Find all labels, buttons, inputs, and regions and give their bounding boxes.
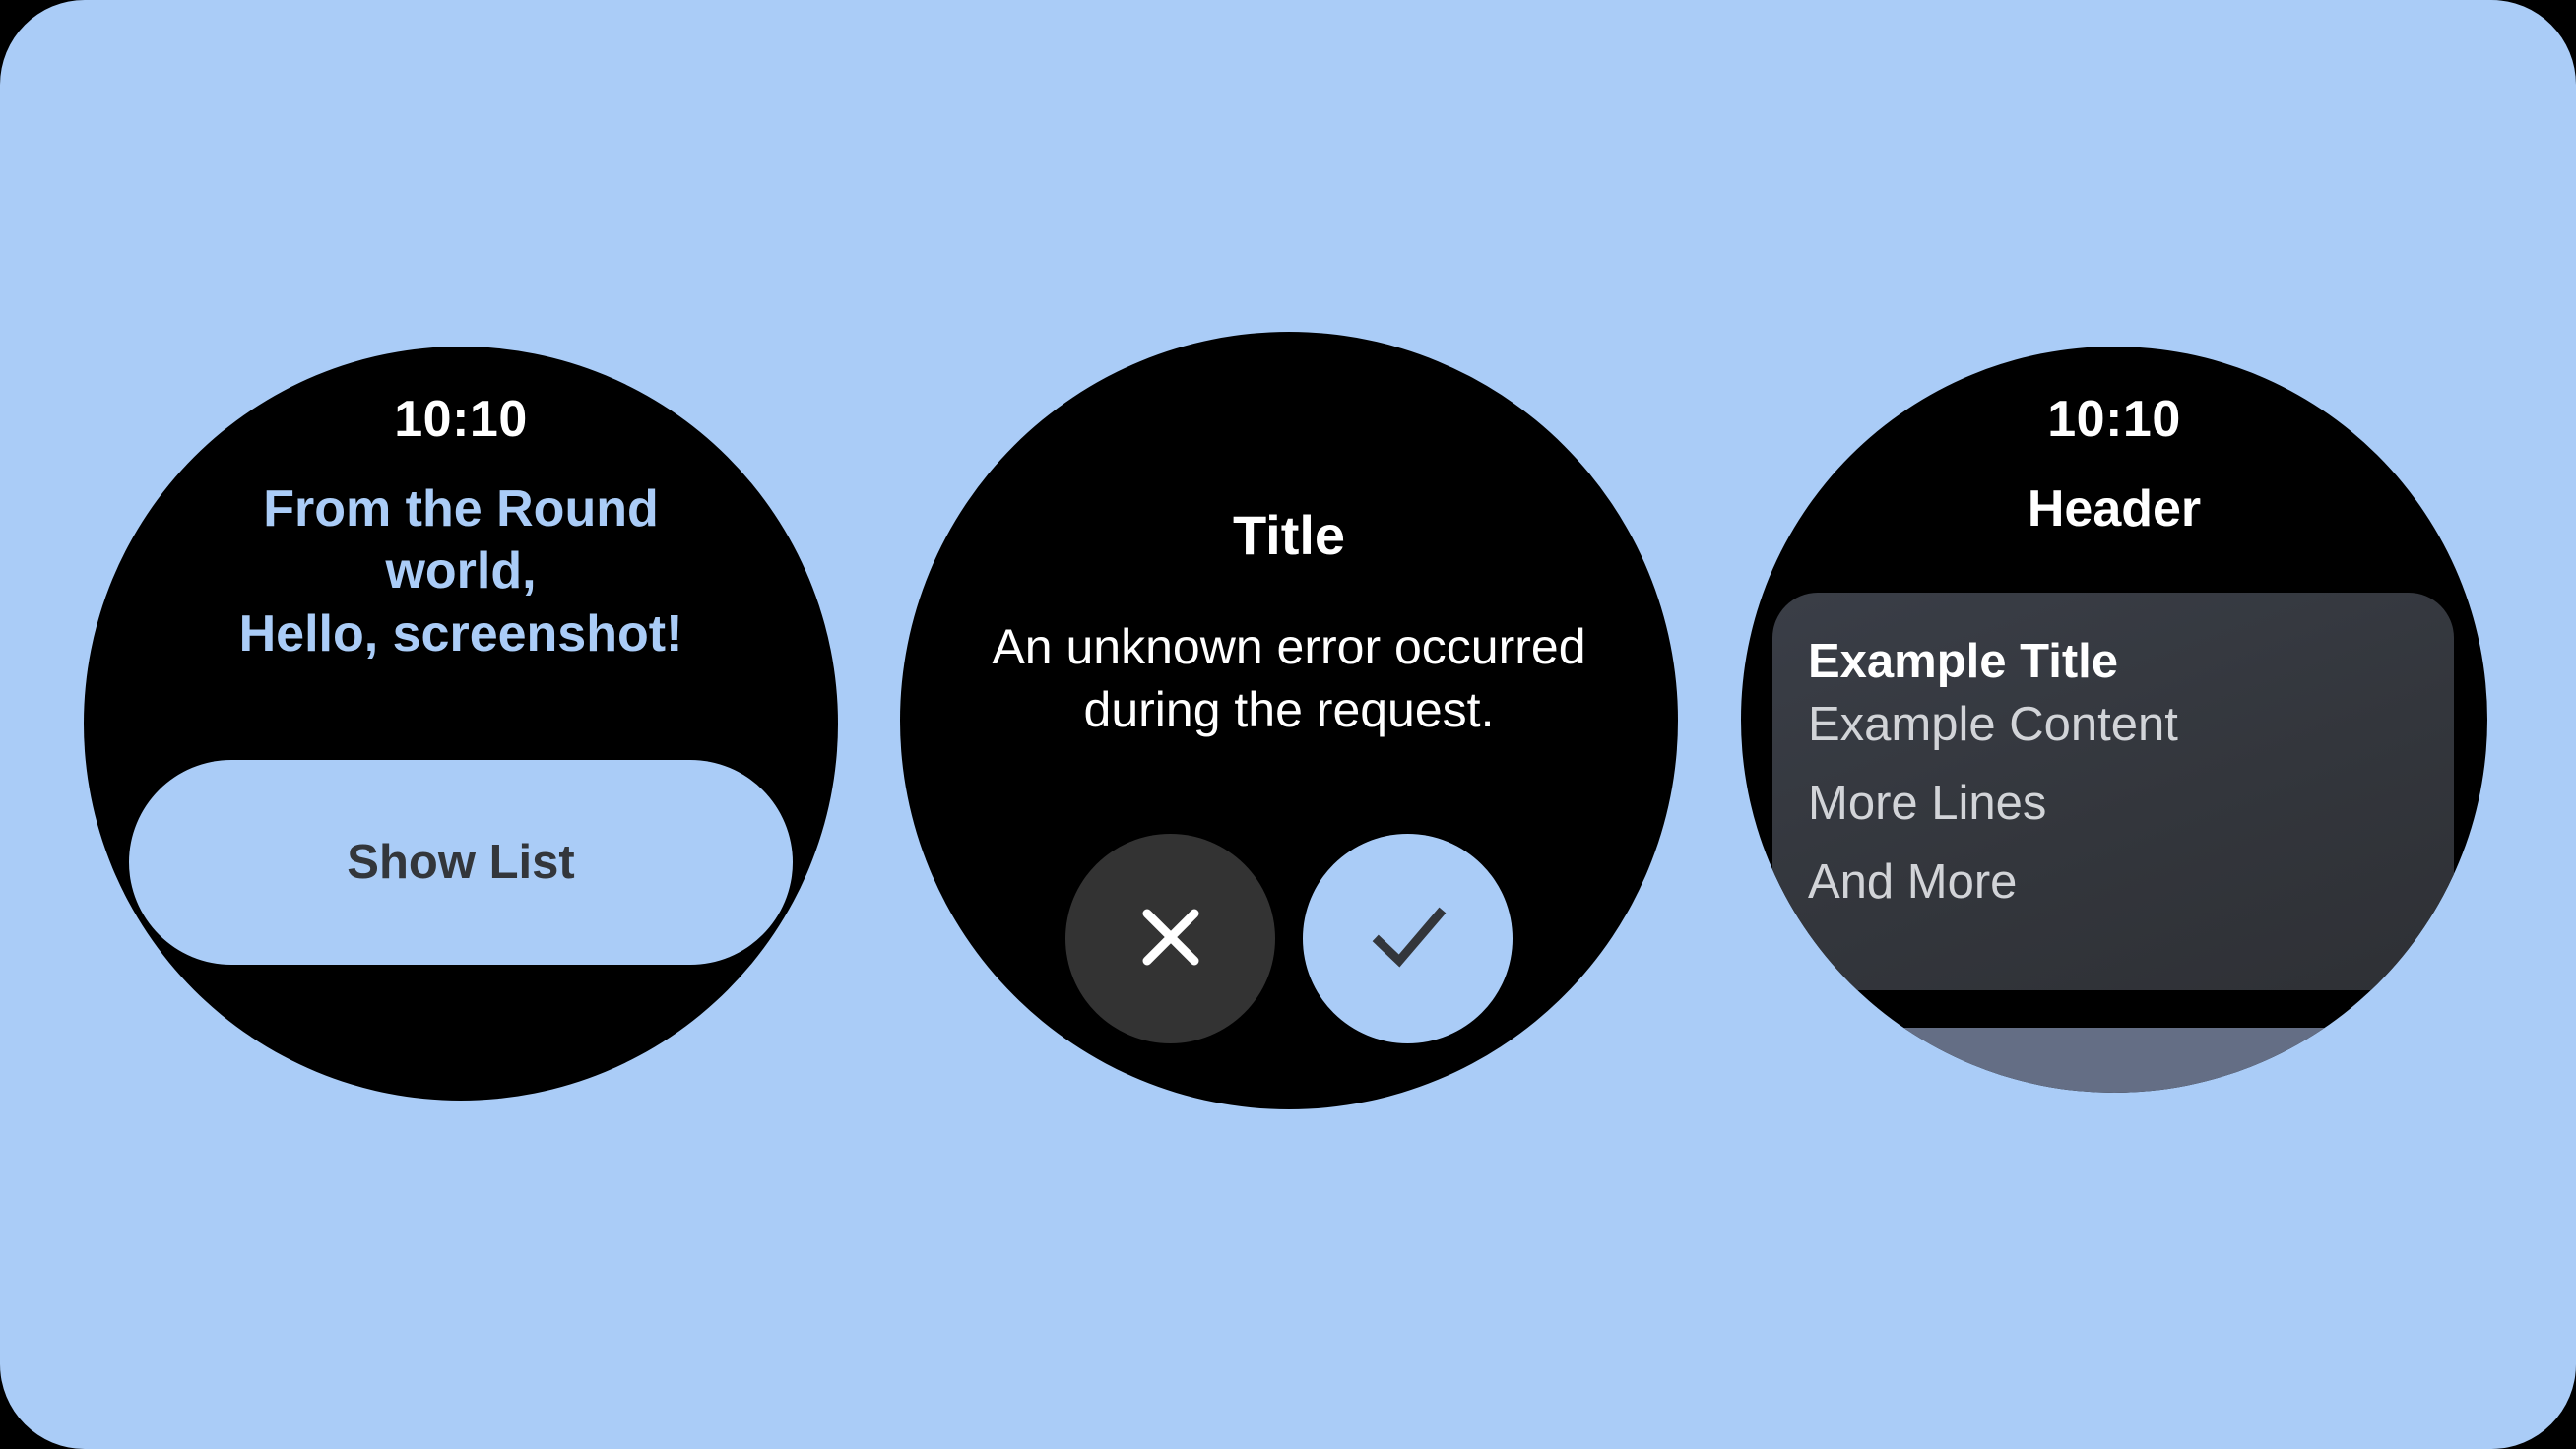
close-icon: [1124, 890, 1218, 987]
greeting-line-2: world,: [143, 540, 779, 602]
confirm-button[interactable]: [1303, 834, 1513, 1043]
card-content: Example Content More Lines And More: [1808, 701, 2444, 937]
example-card[interactable]: Example Title Example Content More Lines…: [1772, 593, 2454, 990]
dismiss-button[interactable]: [1065, 834, 1275, 1043]
dialog-actions: [900, 834, 1678, 1043]
check-icon: [1357, 886, 1459, 991]
watch-round-card-list: 10:10 Header Example Title Example Conte…: [1741, 346, 2487, 1093]
card-list-screen: 10:10 Header Example Title Example Conte…: [1741, 346, 2487, 1093]
watch-greeting-screen: 10:10 From the Round world, Hello, scree…: [84, 346, 838, 1101]
screenshot-canvas: 10:10 From the Round world, Hello, scree…: [0, 0, 2576, 1449]
card-line: Example Content: [1808, 701, 2444, 749]
greeting-line-1: From the Round: [143, 478, 779, 540]
card-line: More Lines: [1808, 780, 2444, 828]
status-time: 10:10: [1741, 390, 2487, 449]
greeting-line-3: Hello, screenshot!: [143, 603, 779, 665]
watch-round-alert-dialog: Title An unknown error occurred during t…: [900, 332, 1678, 1109]
bottom-scrim: [1741, 1028, 2487, 1093]
alert-dialog: Title An unknown error occurred during t…: [900, 332, 1678, 1109]
card-title: Example Title: [1808, 634, 2118, 689]
show-list-button[interactable]: Show List: [129, 760, 793, 965]
card-line: And More: [1808, 858, 2444, 907]
dialog-message-line-2: during the request.: [920, 678, 1658, 741]
status-time: 10:10: [84, 390, 838, 449]
dialog-message: An unknown error occurred during the req…: [920, 615, 1658, 741]
dialog-message-line-1: An unknown error occurred: [920, 615, 1658, 678]
watch-round-greeting: 10:10 From the Round world, Hello, scree…: [84, 346, 838, 1101]
dialog-title: Title: [939, 503, 1639, 567]
greeting-text: From the Round world, Hello, screenshot!: [143, 478, 779, 665]
list-header: Header: [1741, 479, 2487, 538]
